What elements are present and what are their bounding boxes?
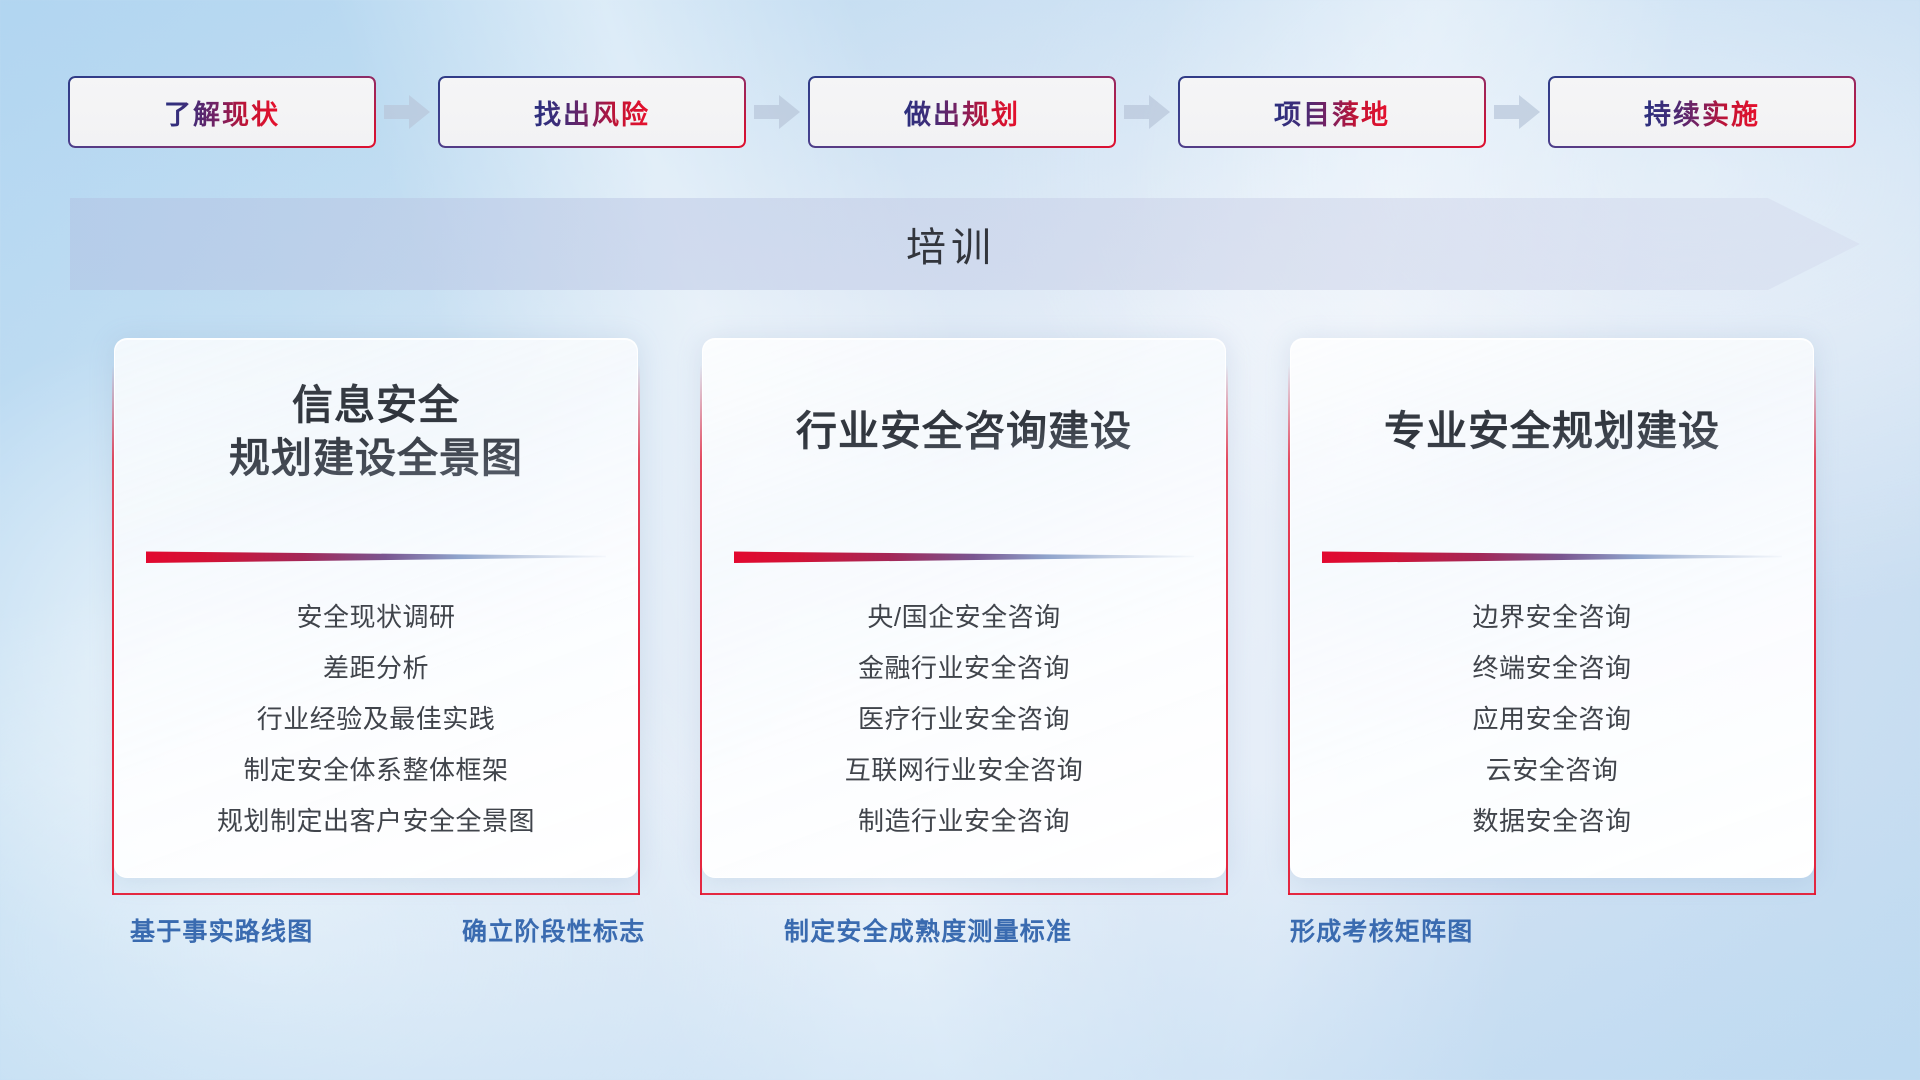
list-item: 差距分析 [323, 643, 429, 694]
list-item: 规划制定出客户安全全景图 [217, 796, 535, 847]
card-edge-accent-right [1226, 365, 1228, 895]
card-title: 信息安全 规划建设全景图 [229, 379, 523, 486]
list-item: 云安全咨询 [1486, 745, 1619, 796]
step-box-2[interactable]: 找出风险 [438, 76, 746, 148]
banner-label: 培训 [70, 198, 1860, 290]
card-edge-accent-left [1288, 365, 1290, 895]
step-label: 找出风险 [534, 93, 650, 132]
card-divider [146, 550, 606, 564]
right-block-arrow-icon [1486, 76, 1548, 148]
step-box-3[interactable]: 做出规划 [808, 76, 1116, 148]
outcome-label: 制定安全成熟度测量标准 [784, 912, 1072, 948]
list-item: 医疗行业安全咨询 [858, 694, 1070, 745]
outcome-label: 确立阶段性标志 [462, 912, 645, 948]
card-edge-accent-bottom [1288, 893, 1816, 895]
step-box-5[interactable]: 持续实施 [1548, 76, 1856, 148]
right-block-arrow-icon [1116, 76, 1178, 148]
outcome-label: 形成考核矩阵图 [1290, 912, 1473, 948]
outcome-label-row: 基于事实路线图 确立阶段性标志 制定安全成熟度测量标准 形成考核矩阵图 [0, 912, 1920, 968]
card-information-security-blueprint[interactable]: 信息安全 规划建设全景图 安全现状调研 差距分析 行业经验及最佳实践 制定安全体… [114, 338, 638, 878]
list-item: 央/国企安全咨询 [867, 592, 1060, 643]
card-item-list: 央/国企安全咨询 金融行业安全咨询 医疗行业安全咨询 互联网行业安全咨询 制造行… [703, 564, 1225, 877]
right-block-arrow-icon [746, 76, 808, 148]
step-box-1[interactable]: 了解现状 [68, 76, 376, 148]
list-item: 制定安全体系整体框架 [243, 745, 508, 796]
card-edge-accent-right [1814, 365, 1816, 895]
step-label: 做出规划 [904, 93, 1020, 132]
card-item-list: 安全现状调研 差距分析 行业经验及最佳实践 制定安全体系整体框架 规划制定出客户… [115, 564, 637, 877]
card-edge-accent-bottom [700, 893, 1228, 895]
card-industry-security-consulting[interactable]: 行业安全咨询建设 央/国企安全咨询 金融行业安全咨询 医疗行业安全咨询 互联网行… [702, 338, 1226, 878]
card-edge-accent-left [112, 365, 114, 895]
card-title: 专业安全规划建设 [1384, 405, 1720, 458]
process-step-row: 了解现状 找出风险 做出规划 项目落地 持续实施 [68, 76, 1858, 148]
outcome-label: 基于事实路线图 [130, 912, 313, 948]
card-item-list: 边界安全咨询 终端安全咨询 应用安全咨询 云安全咨询 数据安全咨询 [1291, 564, 1813, 877]
step-box-4[interactable]: 项目落地 [1178, 76, 1486, 148]
card-edge-accent-left [700, 365, 702, 895]
list-item: 数据安全咨询 [1472, 796, 1631, 847]
list-item: 制造行业安全咨询 [858, 796, 1070, 847]
card-professional-security-planning[interactable]: 专业安全规划建设 边界安全咨询 终端安全咨询 应用安全咨询 云安全咨询 数据安全… [1290, 338, 1814, 878]
list-item: 行业经验及最佳实践 [257, 694, 496, 745]
list-item: 边界安全咨询 [1472, 592, 1631, 643]
training-banner: 培训 [70, 198, 1860, 290]
card-row: 信息安全 规划建设全景图 安全现状调研 差距分析 行业经验及最佳实践 制定安全体… [114, 338, 1814, 878]
step-label: 持续实施 [1644, 93, 1760, 132]
card-title: 行业安全咨询建设 [796, 405, 1132, 458]
card-divider [734, 550, 1194, 564]
list-item: 应用安全咨询 [1472, 694, 1631, 745]
step-label: 项目落地 [1274, 93, 1390, 132]
step-label: 了解现状 [164, 93, 280, 132]
list-item: 终端安全咨询 [1472, 643, 1631, 694]
card-edge-accent-bottom [112, 893, 640, 895]
right-block-arrow-icon [376, 76, 438, 148]
card-edge-accent-right [638, 365, 640, 895]
list-item: 互联网行业安全咨询 [845, 745, 1084, 796]
list-item: 金融行业安全咨询 [858, 643, 1070, 694]
list-item: 安全现状调研 [296, 592, 455, 643]
card-divider [1322, 550, 1782, 564]
